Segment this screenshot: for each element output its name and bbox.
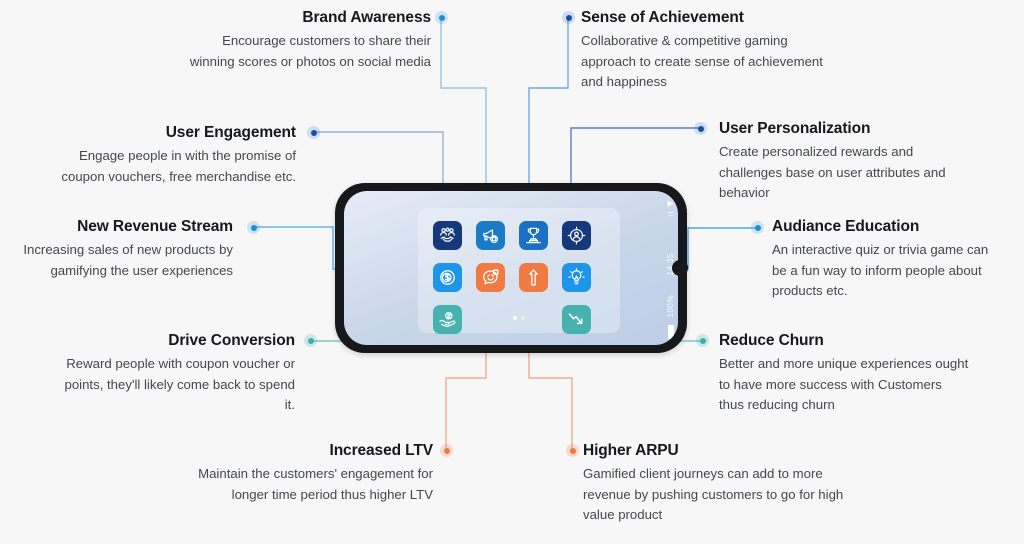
phone-screen: ıl ◀ 14:35 100% (344, 191, 678, 345)
battery-icon (668, 325, 674, 339)
app-icon-lightbulb-idea[interactable] (562, 263, 591, 292)
phone-camera-notch (672, 260, 688, 276)
callout-dot-reduce-churn[interactable] (696, 334, 709, 347)
callout-title: Reduce Churn (719, 331, 969, 350)
app-icon-user-target[interactable] (562, 221, 591, 250)
app-icon-coin[interactable] (433, 263, 462, 292)
callout-title: Increased LTV (193, 441, 433, 460)
callout-sense-of-achievement: Sense of Achievement Collaborative & com… (581, 8, 831, 93)
callout-dot-user-engagement[interactable] (307, 126, 320, 139)
callout-dot-increased-ltv[interactable] (440, 444, 453, 457)
callout-increased-ltv: Increased LTV Maintain the customers' en… (193, 441, 433, 505)
callout-dot-higher-arpu[interactable] (566, 444, 579, 457)
callout-higher-arpu: Higher ARPU Gamified client journeys can… (583, 441, 848, 526)
callout-reduce-churn: Reduce Churn Better and more unique expe… (719, 331, 969, 416)
callout-dot-brand-awareness[interactable] (435, 11, 448, 24)
callout-title: New Revenue Stream (23, 217, 233, 236)
page-dot (521, 316, 525, 320)
phone-mockup: ıl ◀ 14:35 100% (335, 183, 687, 353)
callout-user-engagement: User Engagement Engage people in with th… (48, 123, 296, 187)
callout-body: An interactive quiz or trivia game can b… (772, 240, 1002, 302)
app-icon-smiley-face[interactable] (476, 263, 505, 292)
callout-body: Encourage customers to share their winni… (175, 31, 431, 72)
status-signal: ıl ◀ (666, 199, 675, 216)
app-icon-arrow-up[interactable] (519, 263, 548, 292)
callout-body: Increasing sales of new products by gami… (23, 240, 233, 281)
callout-title: Audiance Education (772, 217, 1002, 236)
callout-body: Maintain the customers' engagement for l… (193, 464, 433, 505)
callout-title: Higher ARPU (583, 441, 848, 460)
page-dot-active (513, 316, 517, 320)
callout-dot-user-personalization[interactable] (694, 122, 707, 135)
callout-dot-drive-conversion[interactable] (304, 334, 317, 347)
callout-user-personalization: User Personalization Create personalized… (719, 119, 975, 204)
callout-title: Brand Awareness (175, 8, 431, 27)
callout-brand-awareness: Brand Awareness Encourage customers to s… (175, 8, 431, 72)
callout-title: Sense of Achievement (581, 8, 831, 27)
callout-dot-sense-of-achievement[interactable] (562, 11, 575, 24)
callout-title: Drive Conversion (62, 331, 295, 350)
callout-body: Reward people with coupon voucher or poi… (62, 354, 295, 416)
app-icon-trophy-podium[interactable] (519, 221, 548, 250)
app-grid-panel (418, 208, 620, 333)
callout-drive-conversion: Drive Conversion Reward people with coup… (62, 331, 295, 416)
callout-dot-audiance-education[interactable] (751, 221, 764, 234)
status-battery: 100% (666, 295, 675, 317)
infographic-canvas: ıl ◀ 14:35 100% Brand Awareness Encourag… (0, 0, 1024, 544)
callout-dot-new-revenue-stream[interactable] (247, 221, 260, 234)
callout-title: User Engagement (48, 123, 296, 142)
callout-body: Engage people in with the promise of cou… (48, 146, 296, 187)
callout-title: User Personalization (719, 119, 975, 138)
app-icon-handshake[interactable] (433, 221, 462, 250)
callout-body: Collaborative & competitive gaming appro… (581, 31, 831, 93)
callout-body: Create personalized rewards and challeng… (719, 142, 975, 204)
callout-new-revenue-stream: New Revenue Stream Increasing sales of n… (23, 217, 233, 281)
callout-audiance-education: Audiance Education An interactive quiz o… (772, 217, 1002, 302)
callout-body: Better and more unique experiences ought… (719, 354, 969, 416)
callout-body: Gamified client journeys can add to more… (583, 464, 848, 526)
app-icon-megaphone[interactable] (476, 221, 505, 250)
page-indicator-dots (418, 307, 620, 325)
